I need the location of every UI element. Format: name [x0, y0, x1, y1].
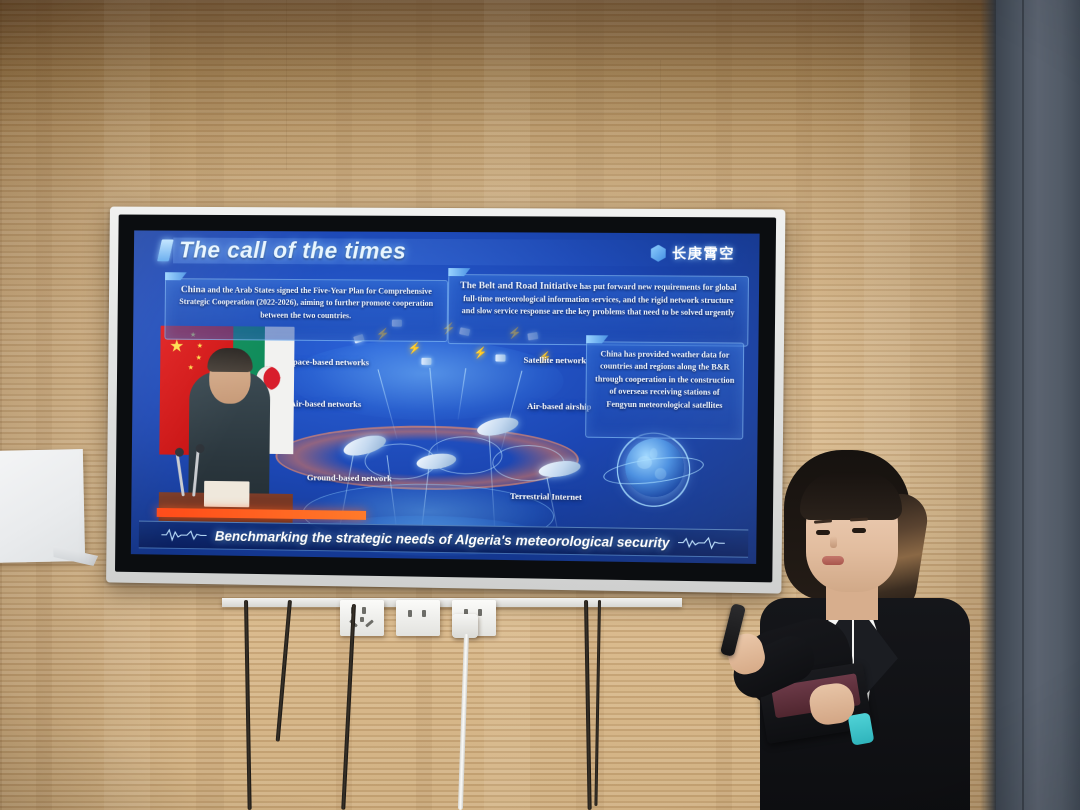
- title-accent-icon: [157, 239, 174, 261]
- label-satellite-network: Satellite network: [523, 355, 586, 366]
- hexagon-logo-icon: [650, 245, 667, 262]
- textbox-fengyun-weather-data: China has provided weather data for coun…: [585, 341, 744, 439]
- textbox-tab-icon: [448, 268, 470, 276]
- label-air-based-airship: Air-based airship: [527, 401, 591, 412]
- label-air-based-networks: Air-based networks: [290, 398, 361, 409]
- television[interactable]: The call of the times 长庚霄空 ⚡ ⚡: [106, 207, 785, 594]
- textbox-body: China has provided weather data for coun…: [595, 349, 734, 409]
- slide-header: The call of the times 长庚霄空: [134, 230, 760, 274]
- label-space-based-networks: Space-based networks: [288, 357, 369, 368]
- presenter-eye: [816, 530, 830, 535]
- paper-note: [0, 449, 85, 563]
- microphone-head: [196, 444, 205, 453]
- signal-bolt-icon: ⚡: [473, 348, 487, 359]
- slide-title: The call of the times: [179, 237, 406, 265]
- textbox-china-arab-states: China and the Arab States signed the Fiv…: [164, 278, 448, 342]
- slide-banner: Benchmarking the strategic needs of Alge…: [139, 521, 749, 558]
- waveform-icon: [162, 528, 207, 543]
- microphone-stand: [176, 453, 185, 497]
- logo-text: 长庚霄空: [672, 243, 735, 264]
- textbox-tab-icon: [586, 335, 608, 343]
- flag-star-icon: ★: [169, 338, 184, 355]
- tv-screen: The call of the times 长庚霄空 ⚡ ⚡: [131, 230, 760, 564]
- brand-logo: 长庚霄空: [650, 243, 735, 264]
- room-scene: The call of the times 长庚霄空 ⚡ ⚡: [0, 0, 1080, 810]
- presenter-hair-front: [800, 472, 902, 520]
- signal-bolt-icon: ⚡: [408, 344, 422, 355]
- presenter-eye: [852, 528, 866, 533]
- label-ground-based-network: Ground-based network: [307, 472, 392, 483]
- flag-star-icon: ★: [197, 343, 203, 350]
- speaker-hair: [207, 348, 253, 372]
- satellite-icon: [495, 354, 505, 361]
- wall-outlet[interactable]: [340, 600, 384, 636]
- presenter: [726, 448, 1036, 810]
- presenter-nose: [830, 536, 837, 548]
- microphone-head: [175, 448, 184, 457]
- textbox-lead: China: [181, 284, 206, 295]
- flag-star-icon: ★: [196, 355, 202, 362]
- space-dome-graphic: [288, 339, 564, 422]
- waveform-icon: [678, 536, 725, 551]
- flag-star-icon: ★: [270, 372, 282, 385]
- label-terrestrial-internet: Terrestrial Internet: [510, 491, 582, 502]
- presenter-mouth: [822, 556, 844, 565]
- name-card: [204, 481, 250, 507]
- textbox-tab-icon: [165, 272, 187, 280]
- flag-star-icon: ★: [188, 365, 194, 372]
- wall-outlet[interactable]: [396, 600, 440, 636]
- globe-graphic: [598, 430, 704, 518]
- speaker-photo: ★ ★ ★ ★ ★ ★: [159, 326, 295, 524]
- satellite-icon: [421, 358, 431, 365]
- tv-bezel-inner: The call of the times 长庚霄空 ⚡ ⚡: [115, 215, 776, 583]
- banner-text: Benchmarking the strategic needs of Alge…: [215, 528, 670, 550]
- textbox-body: and the Arab States signed the Five-Year…: [179, 285, 433, 320]
- textbox-lead: The Belt and Road Initiative: [460, 280, 577, 292]
